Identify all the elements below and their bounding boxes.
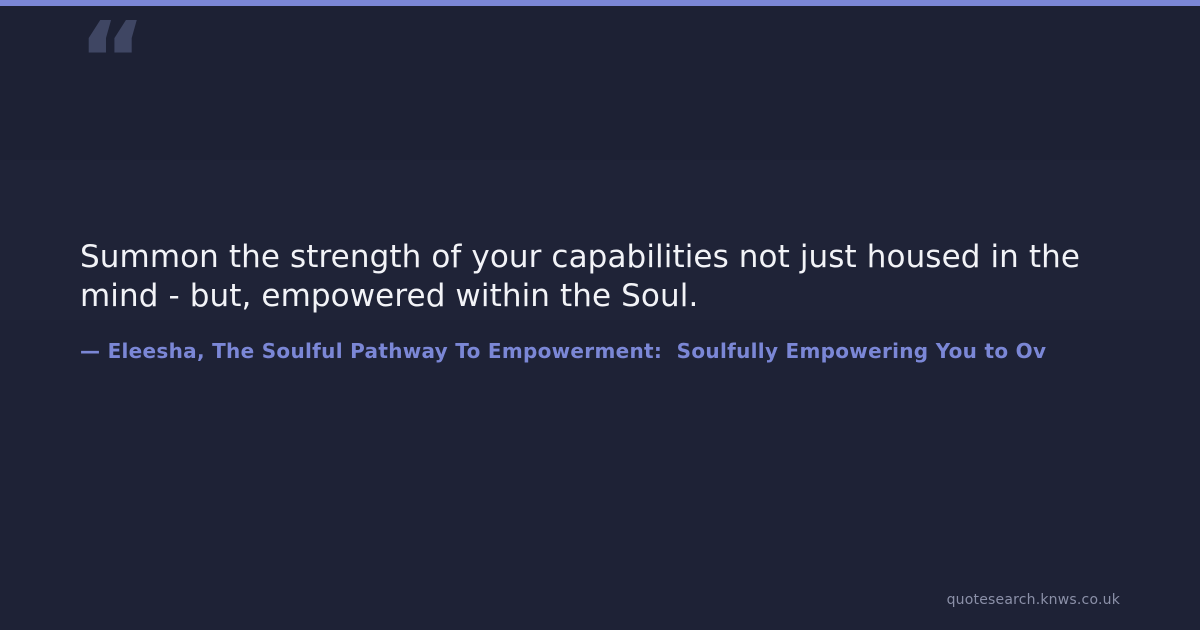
background-band-bottom bbox=[0, 320, 1200, 630]
quote-attribution: — Eleesha, The Soulful Pathway To Empowe… bbox=[80, 316, 1200, 364]
open-quote-mark-icon: “ bbox=[78, 8, 144, 112]
quote-content: Summon the strength of your capabilities… bbox=[80, 238, 1200, 364]
site-watermark: quotesearch.knws.co.uk bbox=[947, 592, 1120, 608]
quote-text: Summon the strength of your capabilities… bbox=[80, 238, 1125, 316]
quote-card: “ Summon the strength of your capabiliti… bbox=[0, 0, 1200, 630]
background-band-top bbox=[0, 6, 1200, 160]
top-accent-bar bbox=[0, 0, 1200, 6]
